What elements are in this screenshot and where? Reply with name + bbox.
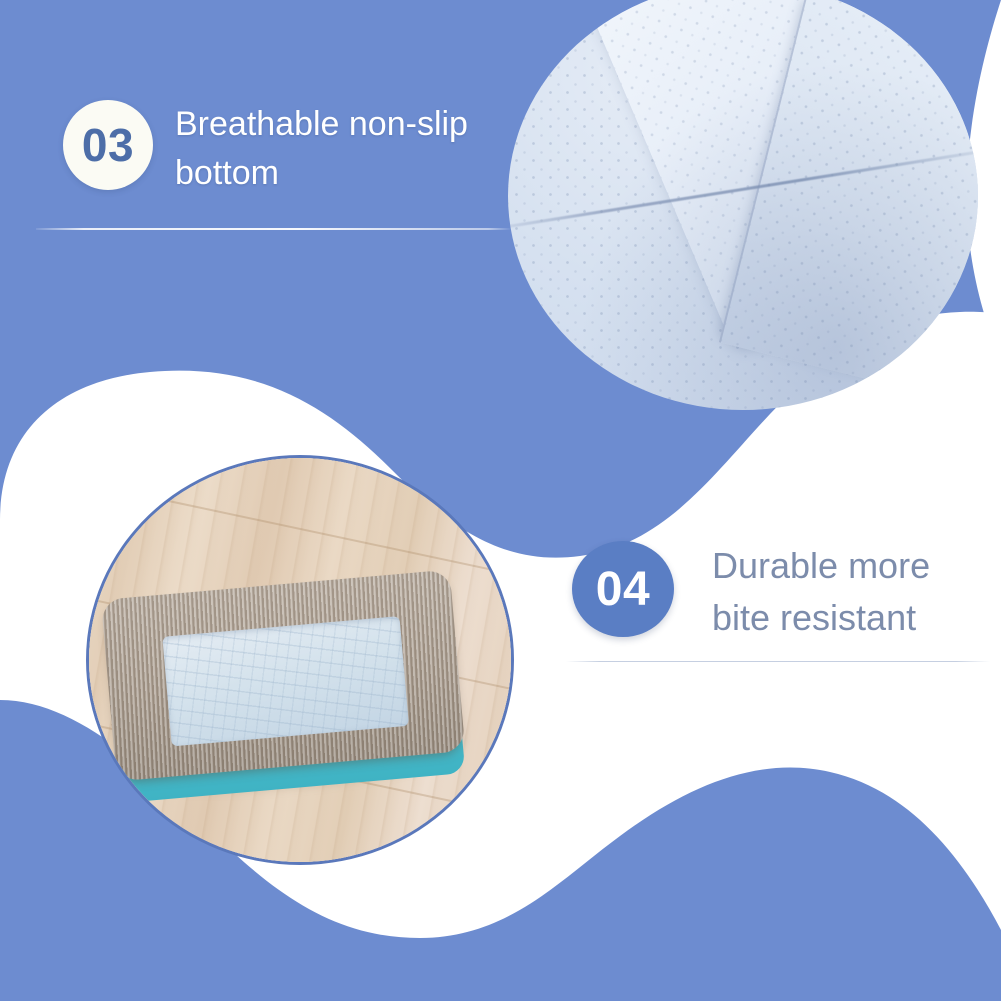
feature-text-04-line2: bite resistant (712, 592, 992, 644)
pet-bed-cooling-mat (162, 616, 409, 746)
feature-divider-03 (36, 228, 512, 230)
feature-text-04: Durable more bite resistant (712, 540, 992, 644)
fabric-closeup-photo (508, 0, 978, 410)
fabric-shading (508, 0, 978, 410)
feature-divider-04 (566, 661, 990, 662)
feature-text-04-line1: Durable more (712, 540, 992, 592)
pet-bed-quilt-texture (162, 616, 409, 746)
feature-badge-04: 04 (572, 541, 674, 637)
feature-text-03: Breathable non-slip bottom (175, 100, 575, 199)
feature-badge-03-number: 03 (82, 118, 134, 172)
infographic-canvas: 03 Breathable non-slip bottom 04 Durable… (0, 0, 1001, 1001)
pet-bed (100, 563, 477, 809)
feature-text-03-line1: Breathable non-slip (175, 100, 575, 149)
feature-badge-03: 03 (63, 100, 153, 190)
feature-badge-04-number: 04 (596, 562, 650, 617)
feature-text-03-line2: bottom (175, 149, 575, 198)
pet-bed-bolster (101, 570, 466, 782)
pet-bed-photo (86, 455, 514, 865)
